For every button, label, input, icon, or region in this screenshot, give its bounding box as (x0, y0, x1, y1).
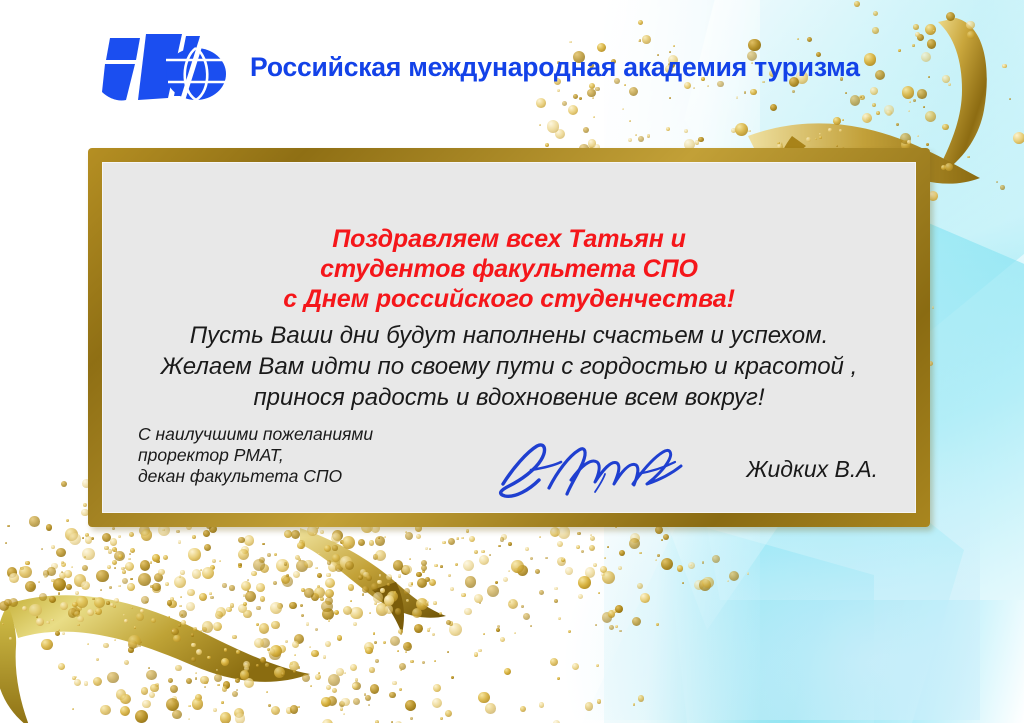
confetti-dot (572, 663, 579, 670)
headline-line-2: студентов факультета СПО (102, 254, 916, 284)
confetti-dot (557, 677, 560, 680)
confetti-dot (130, 548, 135, 553)
confetti-dot (340, 707, 344, 711)
confetti-dot (150, 585, 153, 588)
confetti-dot (238, 537, 245, 544)
confetti-dot (343, 713, 345, 715)
confetti-dot (520, 706, 526, 712)
confetti-dot (365, 695, 371, 701)
confetti-dot (593, 563, 597, 567)
confetti-dot (873, 11, 878, 16)
confetti-dot (630, 533, 640, 543)
wishes-line-3: принося радость и вдохновение всем вокру… (102, 382, 916, 413)
confetti-dot (521, 605, 524, 608)
confetti-dot (647, 134, 651, 138)
certificate-card-frame: Поздравляем всех Татьян и студентов факу… (88, 148, 930, 527)
confetti-dot (259, 557, 265, 563)
confetti-dot (447, 651, 449, 653)
confetti-dot (397, 650, 399, 652)
confetti-dot (286, 574, 289, 577)
confetti-dot (619, 630, 622, 633)
rmat-logo-icon (96, 30, 228, 104)
confetti-dot (241, 581, 251, 591)
confetti-dot (474, 652, 479, 657)
confetti-dot (597, 699, 601, 703)
confetti-dot (485, 703, 496, 714)
confetti-dot (558, 617, 561, 620)
confetti-dot (355, 678, 359, 682)
confetti-dot (602, 571, 615, 584)
confetti-dot (593, 116, 595, 118)
confetti-dot (291, 530, 300, 539)
confetti-dot (433, 684, 441, 692)
confetti-dot (238, 549, 249, 560)
confetti-dot (618, 566, 622, 570)
confetti-dot (112, 527, 115, 530)
confetti-dot (509, 601, 511, 603)
confetti-dot (392, 681, 397, 686)
confetti-dot (682, 582, 684, 584)
confetti-dot (405, 651, 407, 653)
confetti-dot (661, 558, 673, 570)
confetti-dot (688, 562, 695, 569)
confetti-dot (629, 538, 640, 549)
closing-line-1: С наилучшими пожеланиями (138, 424, 373, 445)
confetti-dot (260, 564, 269, 573)
wishes-line-1: Пусть Ваши дни будут наполнены счастьем … (102, 320, 916, 351)
confetti-dot (125, 566, 128, 569)
confetti-dot (267, 553, 271, 557)
confetti-dot (9, 573, 19, 583)
confetti-dot (176, 530, 180, 534)
wishes-line-2: Желаем Вам идти по своему пути с гордост… (102, 351, 916, 382)
confetti-dot (598, 592, 600, 594)
confetti-dot (19, 566, 31, 578)
confetti-dot (179, 575, 181, 577)
confetti-dot (109, 586, 112, 589)
confetti-dot (107, 565, 111, 569)
confetti-dot (539, 702, 545, 708)
confetti-dot (561, 558, 565, 562)
confetti-dot (83, 503, 87, 507)
academy-title: Российская международная академия туризм… (250, 52, 860, 83)
confetti-dot (122, 570, 125, 573)
confetti-dot (511, 560, 524, 573)
confetti-dot (600, 566, 607, 573)
confetti-dot (202, 567, 214, 579)
confetti-dot (729, 571, 739, 581)
confetti-dot (628, 138, 632, 142)
confetti-dot (253, 559, 265, 571)
confetti-dot (694, 580, 704, 590)
confetti-dot (284, 562, 287, 565)
confetti-dot (203, 530, 210, 537)
confetti-dot (699, 579, 711, 591)
confetti-dot (576, 545, 580, 549)
confetti-dot (200, 569, 202, 571)
headline-line-1: Поздравляем всех Татьян и (102, 224, 916, 254)
confetti-dot (545, 143, 549, 147)
confetti-dot (615, 625, 618, 628)
confetti-dot (622, 108, 624, 110)
confetti-dot (51, 579, 54, 582)
confetti-dot (557, 557, 566, 566)
confetti-dot (596, 664, 599, 667)
confetti-dot (188, 548, 200, 560)
confetti-dot (609, 625, 614, 630)
confetti-dot (489, 554, 491, 556)
confetti-dot (43, 570, 49, 576)
confetti-dot (61, 562, 66, 567)
confetti-dot (500, 537, 504, 541)
confetti-dot (152, 554, 160, 562)
confetti-dot (632, 617, 641, 626)
confetti-dot (589, 545, 595, 551)
confetti-dot (158, 569, 165, 576)
confetti-dot (238, 564, 242, 568)
confetti-dot (525, 547, 529, 551)
gold-ribbon-bottom-left-icon (0, 590, 320, 723)
confetti-dot (85, 536, 93, 544)
confetti-dot (539, 590, 545, 596)
confetti-dot (352, 682, 361, 691)
confetti-dot (82, 587, 84, 589)
confetti-dot (129, 532, 134, 537)
confetti-dot (637, 583, 643, 589)
confetti-dot (210, 565, 216, 571)
confetti-dot (204, 544, 212, 552)
confetti-dot (69, 533, 81, 545)
confetti-dot (666, 127, 670, 131)
confetti-dot (162, 529, 165, 532)
confetti-dot (115, 550, 117, 552)
confetti-dot (51, 563, 57, 569)
confetti-dot (608, 610, 616, 618)
confetti-dot (323, 655, 327, 659)
confetti-dot (84, 556, 86, 558)
confetti-dot (495, 581, 498, 584)
confetti-dot (585, 567, 595, 577)
confetti-dot (514, 632, 516, 634)
confetti-dot (550, 527, 561, 538)
confetti-dot (341, 698, 349, 706)
confetti-dot (590, 536, 595, 541)
confetti-dot (129, 553, 131, 555)
confetti-dot (293, 571, 300, 578)
confetti-dot (121, 567, 124, 570)
confetti-dot (82, 537, 84, 539)
confetti-dot (585, 702, 594, 711)
confetti-dot (61, 481, 67, 487)
confetti-dot (91, 537, 94, 540)
confetti-dot (66, 519, 69, 522)
confetti-dot (61, 561, 64, 564)
confetti-dot (262, 543, 265, 546)
confetti-dot (657, 554, 660, 557)
confetti-dot (405, 700, 416, 711)
confetti-dot (545, 557, 548, 560)
confetti-dot (639, 552, 641, 554)
confetti-dot (577, 532, 580, 535)
confetti-dot (514, 568, 519, 573)
confetti-dot (555, 129, 565, 139)
confetti-dot (539, 124, 541, 126)
confetti-dot (638, 695, 644, 701)
confetti-dot (400, 669, 402, 671)
confetti-dot (656, 623, 658, 625)
confetti-dot (684, 129, 689, 134)
confetti-dot (339, 701, 345, 707)
certificate-card-body: Поздравляем всех Татьян и студентов факу… (102, 162, 916, 513)
confetti-dot (547, 120, 559, 132)
confetti-dot (7, 525, 9, 527)
confetti-dot (64, 570, 71, 577)
confetti-dot (479, 555, 490, 566)
confetti-dot (38, 581, 40, 583)
confetti-dot (638, 20, 643, 25)
confetti-dot (118, 554, 123, 559)
confetti-dot (523, 613, 530, 620)
confetti-dot (481, 550, 485, 554)
confetti-dot (500, 637, 506, 643)
confetti-dot (629, 120, 631, 122)
confetti-dot (56, 548, 66, 558)
confetti-dot (174, 576, 186, 588)
confetti-dot (497, 625, 500, 628)
confetti-dot (563, 558, 565, 560)
confetti-dot (702, 561, 705, 564)
confetti-dot (5, 542, 7, 544)
confetti-dot (370, 684, 380, 694)
confetti-dot (478, 692, 490, 704)
confetti-dot (327, 696, 337, 706)
confetti-dot (138, 573, 151, 586)
confetti-dot (364, 693, 366, 695)
confetti-dot (517, 565, 529, 577)
confetti-dot (286, 564, 290, 568)
confetti-dot (501, 534, 507, 540)
confetti-dot (102, 533, 111, 542)
confetti-dot (122, 578, 128, 584)
confetti-dot (29, 584, 31, 586)
confetti-dot (112, 560, 117, 565)
confetti-dot (554, 587, 558, 591)
confetti-dot (130, 578, 133, 581)
confetti-dot (44, 575, 47, 578)
confetti-dot (104, 546, 108, 550)
confetti-dot (25, 561, 29, 565)
confetti-dot (74, 574, 87, 587)
confetti-dot (352, 683, 358, 689)
confetti-dot (222, 583, 227, 588)
confetti-dot (326, 685, 332, 691)
confetti-dot (192, 535, 196, 539)
confetti-dot (638, 136, 644, 142)
confetti-dot (399, 688, 402, 691)
confetti-dot (633, 703, 635, 705)
confetti-dot (241, 546, 249, 554)
closing-line-2: проректор РМАТ, (138, 445, 373, 466)
confetti-dot (29, 584, 35, 590)
confetti-dot (61, 571, 63, 573)
confetti-dot (141, 529, 152, 540)
headline-line-3: с Днем российского студенчества! (102, 284, 916, 314)
confetti-dot (244, 535, 254, 545)
confetti-dot (152, 586, 154, 588)
confetti-dot (82, 565, 88, 571)
confetti-dot (677, 565, 683, 571)
confetti-dot (375, 659, 380, 664)
confetti-dot (578, 594, 583, 599)
confetti-dot (613, 609, 618, 614)
confetti-dot (238, 563, 241, 566)
confetti-dot (712, 555, 720, 563)
confetti-dot (615, 605, 623, 613)
confetti-dot (212, 559, 217, 564)
confetti-dot (554, 599, 558, 603)
page-header: Российская международная академия туризм… (96, 30, 860, 104)
confetti-dot (192, 569, 202, 579)
confetti-dot (602, 612, 612, 622)
closing-line-3: декан факультета СПО (138, 466, 373, 487)
confetti-dot (640, 593, 650, 603)
confetti-dot (590, 534, 592, 536)
confetti-dot (932, 306, 935, 309)
confetti-dot (163, 555, 168, 560)
confetti-dot (530, 625, 532, 627)
confetti-dot (369, 667, 375, 673)
confetti-dot (568, 105, 578, 115)
confetti-dot (655, 559, 658, 562)
confetti-dot (219, 560, 221, 562)
confetti-dot (125, 562, 134, 571)
background-facet-4 (574, 520, 874, 723)
greeting-card-poster: Российская международная академия туризм… (0, 0, 1024, 723)
confetti-dot (129, 586, 132, 589)
confetti-dot (535, 569, 540, 574)
confetti-dot (321, 697, 331, 707)
confetti-dot (854, 1, 860, 7)
confetti-dot (434, 660, 436, 662)
confetti-dot (487, 585, 499, 597)
confetti-dot (118, 535, 121, 538)
confetti-dot (336, 668, 344, 676)
confetti-dot (353, 698, 360, 705)
confetti-dot (410, 660, 413, 663)
confetti-dot (251, 571, 257, 577)
gold-ribbon-bottom-center-icon (300, 524, 480, 644)
confetti-dot (81, 581, 91, 591)
confetti-dot (581, 550, 584, 553)
confetti-dot (508, 542, 512, 546)
signer-name: Жидких В.А. (746, 456, 878, 483)
confetti-dot (129, 583, 133, 587)
confetti-dot (601, 573, 605, 577)
confetti-dot (698, 137, 703, 142)
confetti-dot (150, 561, 153, 564)
confetti-dot (508, 570, 510, 572)
confetti-dot (530, 557, 533, 560)
confetti-dot (663, 534, 669, 540)
confetti-dot (180, 570, 184, 574)
confetti-dot (735, 123, 748, 136)
confetti-dot (20, 567, 24, 571)
confetti-dot (46, 524, 52, 530)
confetti-dot (41, 548, 43, 550)
confetti-dot (422, 661, 425, 664)
confetti-dot (604, 557, 606, 559)
closing-block: С наилучшими пожеланиями проректор РМАТ,… (138, 424, 373, 487)
wishes-block: Пусть Ваши дни будут наполнены счастьем … (102, 320, 916, 413)
confetti-dot (503, 577, 508, 582)
confetti-dot (595, 624, 597, 626)
confetti-dot (332, 688, 337, 693)
confetti-dot (128, 558, 130, 560)
confetti-dot (504, 668, 511, 675)
confetti-dot (156, 560, 160, 564)
confetti-dot (85, 533, 89, 537)
confetti-dot (71, 566, 73, 568)
confetti-dot (274, 553, 278, 557)
confetti-dot (110, 538, 118, 546)
confetti-dot (140, 560, 151, 571)
confetti-dot (399, 663, 407, 671)
confetti-dot (508, 599, 518, 609)
confetti-dot (478, 649, 481, 652)
confetti-dot (365, 647, 372, 654)
confetti-dot (51, 545, 55, 549)
confetti-dot (483, 633, 485, 635)
confetti-dot (29, 516, 40, 527)
confetti-dot (496, 628, 501, 633)
confetti-dot (558, 526, 570, 538)
confetti-dot (451, 676, 454, 679)
confetti-dot (440, 717, 443, 720)
confetti-dot (702, 577, 714, 589)
confetti-dot (690, 564, 693, 567)
confetti-dot (273, 581, 277, 585)
confetti-dot (432, 698, 442, 708)
confetti-dot (7, 567, 18, 578)
confetti-dot (539, 536, 541, 538)
confetti-dot (619, 550, 626, 557)
confetti-dot (282, 576, 293, 587)
confetti-dot (410, 717, 413, 720)
handwritten-signature-icon (487, 440, 702, 502)
confetti-dot (247, 579, 249, 581)
confetti-dot (112, 547, 117, 552)
headline-block: Поздравляем всех Татьян и студентов факу… (102, 224, 916, 314)
confetti-dot (727, 580, 729, 582)
confetti-dot (114, 551, 124, 561)
confetti-dot (276, 559, 289, 572)
confetti-dot (655, 526, 663, 534)
confetti-dot (635, 134, 637, 136)
confetti-dot (607, 546, 609, 548)
confetti-dot (165, 582, 169, 586)
confetti-dot (568, 630, 572, 634)
confetti-dot (578, 576, 591, 589)
confetti-dot (583, 127, 589, 133)
confetti-dot (154, 573, 163, 582)
confetti-dot (284, 530, 292, 538)
confetti-dot (118, 585, 121, 588)
confetti-dot (114, 567, 116, 569)
confetti-dot (588, 139, 597, 148)
confetti-dot (550, 658, 558, 666)
confetti-dot (328, 674, 340, 686)
confetti-dot (389, 692, 395, 698)
